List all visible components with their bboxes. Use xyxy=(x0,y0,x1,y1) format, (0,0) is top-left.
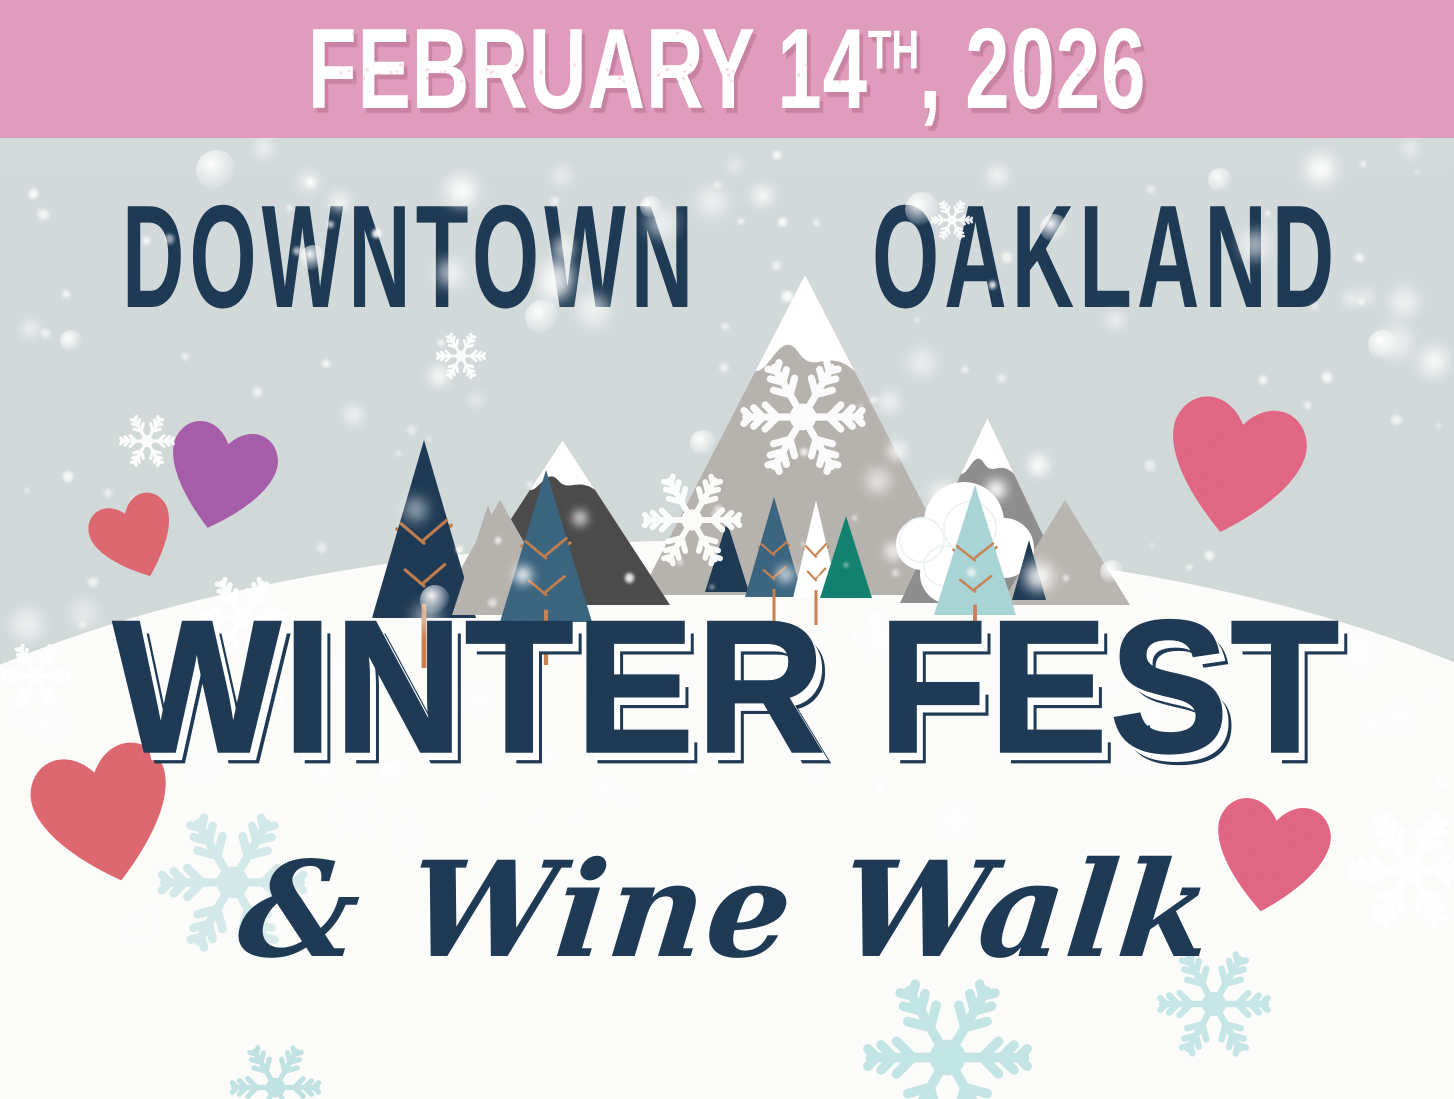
tree-pale-teal xyxy=(934,485,1016,656)
heart-large-pink-icon xyxy=(1146,374,1324,552)
tree-navy-small xyxy=(705,522,749,597)
tree-steel-large xyxy=(500,470,592,670)
tree-green xyxy=(820,516,872,603)
city-label-downtown: DOWNTOWN xyxy=(122,184,698,330)
subtitle-wine-walk: & Wine Walk xyxy=(234,845,1221,977)
date-ordinal-suffix: TH xyxy=(868,21,919,81)
date-month-day: FEBRUARY 14 xyxy=(308,5,868,133)
subtitle-wrap: & Wine Walk xyxy=(0,845,1454,977)
date-year: , 2026 xyxy=(919,5,1146,133)
date-banner: FEBRUARY 14TH, 2026 xyxy=(0,0,1454,138)
tree-navy-tiny xyxy=(1012,540,1046,605)
winter-fest-poster: FEBRUARY 14TH, 2026 DOWNTOWN OAKLAND WIN… xyxy=(0,0,1454,1099)
city-label-oakland: OAKLAND xyxy=(872,184,1339,330)
date-text: FEBRUARY 14TH, 2026 xyxy=(308,12,1146,126)
